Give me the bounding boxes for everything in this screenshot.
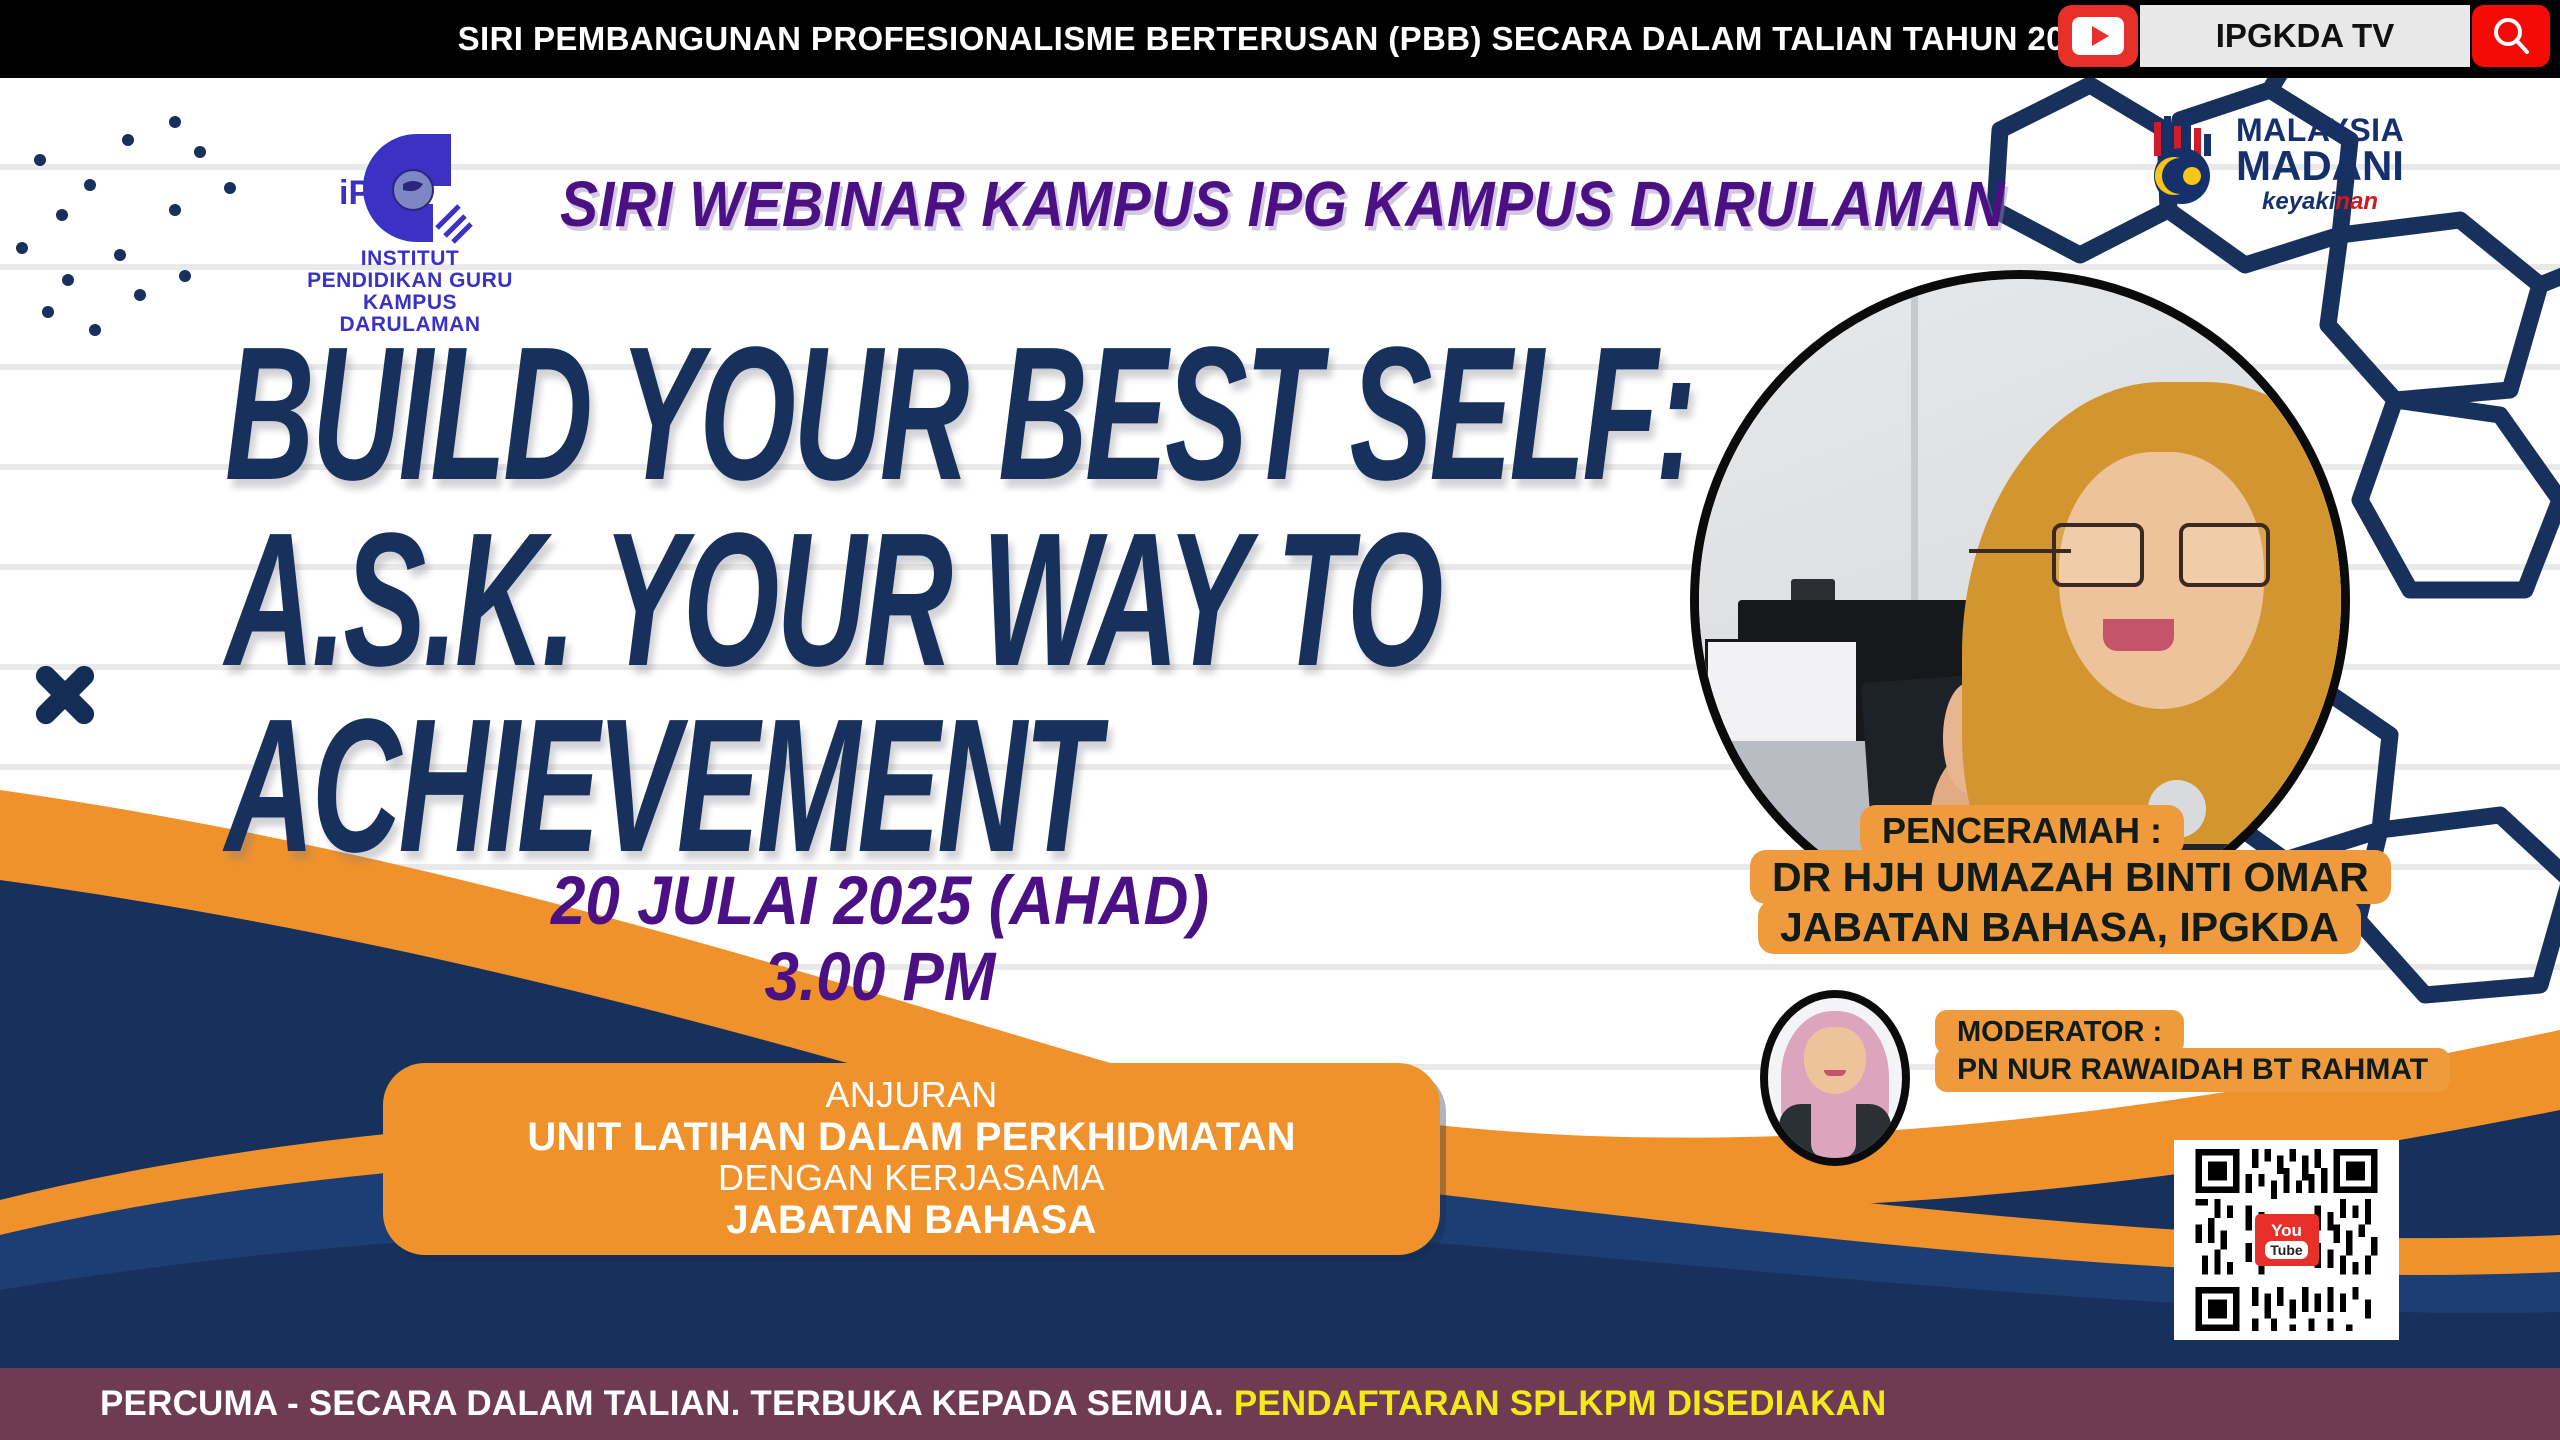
youtube-channel-button[interactable]: IPGKDA TV (2058, 4, 2550, 68)
madani-line1: MALAYSIA (2236, 116, 2404, 145)
footer-notice-highlight: PENDAFTARAN SPLKPM DISEDIAKAN (1234, 1384, 1887, 1423)
madani-emblem-icon (2140, 108, 2232, 208)
moderator-name: PN NUR RAWAIDAH BT RAHMAT (1935, 1048, 2450, 1092)
organiser-unit: UNIT LATIHAN DALAM PERKHIDMATAN (527, 1115, 1295, 1159)
event-time: 3.00 PM (470, 936, 1290, 1019)
cross-decoration-upper (30, 660, 100, 730)
youtube-channel-name[interactable]: IPGKDA TV (2140, 5, 2470, 67)
footer-bar: PERCUMA - SECARA DALAM TALIAN. TERBUKA K… (0, 1368, 2560, 1440)
madani-tagline: keyakinan (2262, 188, 2404, 216)
youtube-badge-line2: Tube (2265, 1241, 2307, 1259)
moderator-avatar (1760, 990, 1910, 1166)
series-title: SIRI PEMBANGUNAN PROFESIONALISME BERTERU… (458, 20, 2103, 58)
speaker-department: JABATAN BAHASA, IPGKDA (1758, 900, 2361, 954)
youtube-badge-icon: You Tube (2255, 1214, 2319, 1266)
organiser-label-kerjasama: DENGAN KERJASAMA (718, 1159, 1105, 1198)
headline-line-2: A.S.K. YOUR WAY TO (225, 508, 1635, 692)
ipg-logo-line1: INSTITUT PENDIDIKAN GURU (290, 248, 530, 292)
organiser-label-anjuran: ANJURAN (825, 1076, 997, 1115)
speaker-name: DR HJH UMAZAH BINTI OMAR (1750, 850, 2391, 904)
organiser-partner: JABATAN BAHASA (726, 1198, 1096, 1242)
main-headline: BUILD YOUR BEST SELF: A.S.K. YOUR WAY TO… (225, 322, 1725, 880)
dot-cluster-decoration-left (0, 80, 260, 400)
event-date: 20 JULAI 2025 (AHAD) (470, 860, 1290, 943)
madani-line2: MADANI (2236, 147, 2404, 186)
ipg-logo-mark: iPG (325, 128, 495, 248)
search-icon[interactable] (2472, 5, 2550, 67)
footer-notice-plain: PERCUMA - SECARA DALAM TALIAN. TERBUKA K… (100, 1384, 1234, 1423)
headline-line-1: BUILD YOUR BEST SELF: (225, 322, 1635, 506)
youtube-badge-line1: You (2271, 1222, 2302, 1239)
footer-notice: PERCUMA - SECARA DALAM TALIAN. TERBUKA K… (100, 1384, 1887, 1424)
event-datetime: 20 JULAI 2025 (AHAD) 3.00 PM (470, 860, 1290, 1011)
headline-line-3: ACHIEVEMENT (225, 694, 1635, 878)
malaysia-madani-logo: MALAYSIA MADANI keyakinan (2140, 108, 2460, 228)
youtube-play-icon[interactable] (2058, 5, 2138, 67)
webinar-poster: SIRI PEMBANGUNAN PROFESIONALISME BERTERU… (0, 0, 2560, 1440)
webinar-series-subtitle: SIRI WEBINAR KAMPUS IPG KAMPUS DARULAMAN (560, 168, 2005, 242)
youtube-qr-code[interactable]: You Tube (2174, 1140, 2399, 1340)
svg-text:iPG: iPG (339, 174, 398, 212)
organiser-box: ANJURAN UNIT LATIHAN DALAM PERKHIDMATAN … (383, 1063, 1440, 1255)
ipg-logo: iPG INSTITUT PENDIDIKAN GURU KAMPUS DARU… (290, 128, 530, 336)
